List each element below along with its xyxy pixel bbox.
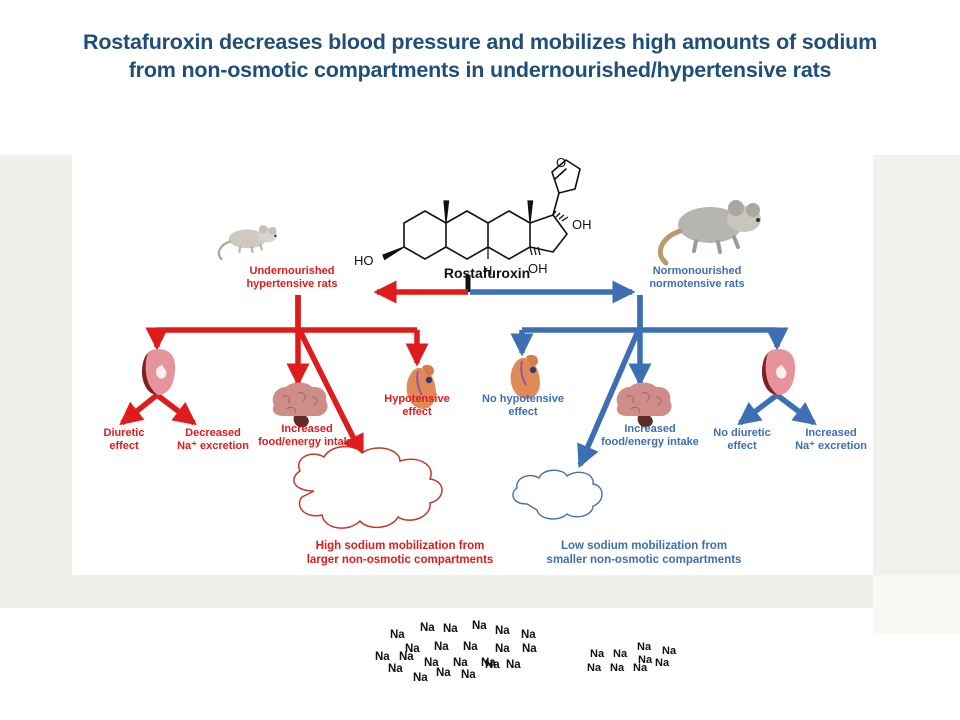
na-token: Na — [521, 630, 536, 642]
na-token: Na — [485, 660, 500, 672]
slide-title: Rostafuroxin decreases blood pressure an… — [80, 28, 880, 85]
na-token: Na — [637, 642, 651, 653]
na-token: Na — [375, 652, 390, 664]
na-token: Na — [662, 646, 676, 657]
na-token: Na — [453, 658, 468, 670]
na-token: Na — [390, 630, 405, 642]
low-sodium-cloud — [72, 155, 873, 575]
na-token: Na — [522, 644, 537, 656]
figure-panel: O OH OH HO H Rostafuroxin — [72, 155, 873, 575]
na-token: Na — [495, 644, 510, 656]
na-token: Na — [613, 649, 627, 660]
na-token: Na — [655, 658, 669, 669]
caption-low-sodium: Low sodium mobilization from smaller non… — [494, 540, 794, 567]
na-token: Na — [463, 642, 478, 654]
na-token: Na — [610, 663, 624, 674]
na-token: Na — [420, 623, 435, 635]
na-token: Na — [436, 668, 451, 680]
na-token: Na — [590, 649, 604, 660]
na-token: Na — [434, 642, 449, 654]
slide-canvas: Rostafuroxin decreases blood pressure an… — [0, 0, 960, 720]
na-token: Na — [587, 663, 601, 674]
caption-line1: Low sodium mobilization from — [494, 540, 794, 554]
na-token: Na — [495, 626, 510, 638]
na-token: Na — [388, 664, 403, 676]
decorative-band-bottom — [0, 575, 873, 608]
na-token: Na — [506, 660, 521, 672]
decorative-band-corner — [873, 575, 960, 635]
caption-line2: smaller non-osmotic compartments — [494, 554, 794, 568]
na-token: Na — [399, 652, 414, 664]
na-token: Na — [461, 670, 476, 682]
na-token: Na — [443, 624, 458, 636]
na-token: Na — [633, 663, 647, 674]
na-token: Na — [472, 621, 487, 633]
na-token: Na — [413, 673, 428, 685]
decorative-band-right — [873, 155, 960, 608]
